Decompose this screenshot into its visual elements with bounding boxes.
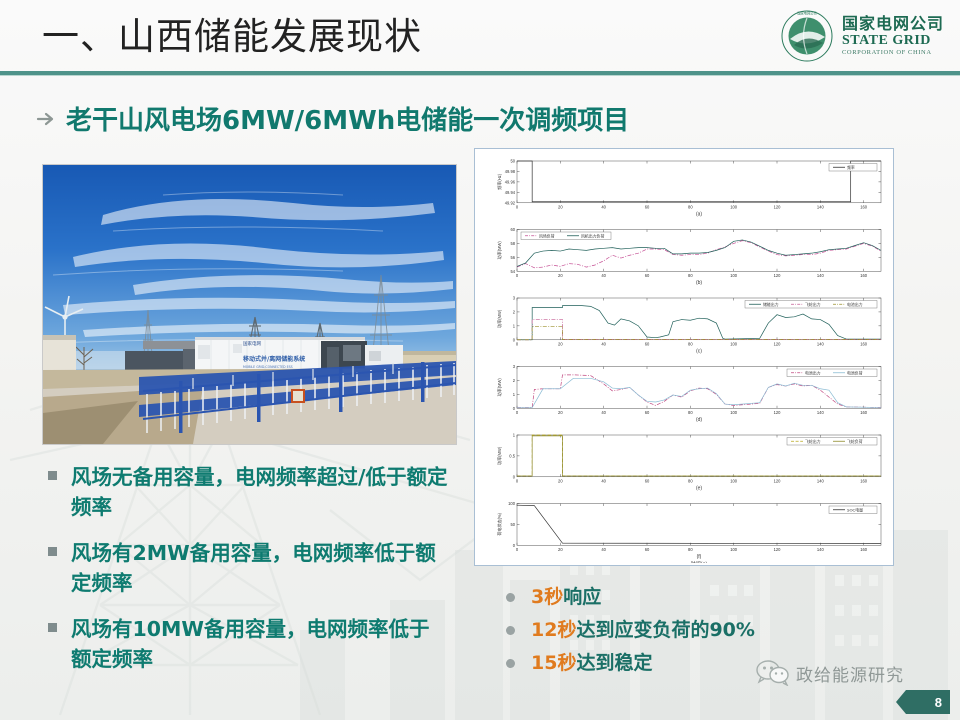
svg-text:40: 40 xyxy=(601,341,606,346)
svg-text:国家电网: 国家电网 xyxy=(243,340,261,347)
site-photo: 国家电网 移动式并/离网储能系统 MOBILE GRID-CONNECTED E… xyxy=(42,164,457,445)
svg-text:1: 1 xyxy=(513,433,516,438)
svg-text:140: 140 xyxy=(817,478,825,483)
svg-text:120: 120 xyxy=(774,410,782,415)
svg-text:60: 60 xyxy=(645,273,650,278)
svg-text:电池出力: 电池出力 xyxy=(805,370,821,375)
svg-text:2: 2 xyxy=(513,309,516,314)
svg-text:80: 80 xyxy=(688,341,693,346)
photo-content: 国家电网 移动式并/离网储能系统 MOBILE GRID-CONNECTED E… xyxy=(43,165,456,444)
right-bullet-2-number: 12秒 xyxy=(531,619,576,641)
svg-text:时间(s): 时间(s) xyxy=(691,560,708,563)
svg-text:频率(Hz): 频率(Hz) xyxy=(496,173,502,190)
svg-text:120: 120 xyxy=(774,273,782,278)
svg-text:60: 60 xyxy=(645,204,650,209)
svg-text:电池出力: 电池出力 xyxy=(847,302,863,307)
svg-text:0: 0 xyxy=(516,478,519,483)
left-bullet-list: 风场无备用容量，电网频率超过/低于额定频率 风场有2MW备用容量，电网频率低于额… xyxy=(48,462,448,690)
logo-company-cn: 国家电网公司 xyxy=(842,16,944,32)
page-title: 一、山西储能发展现状 xyxy=(42,14,422,60)
svg-text:(d): (d) xyxy=(696,417,702,423)
svg-text:140: 140 xyxy=(817,273,825,278)
square-bullet-icon xyxy=(48,471,57,480)
svg-text:40: 40 xyxy=(601,410,606,415)
svg-text:飞轮出力: 飞轮出力 xyxy=(805,439,821,444)
right-bullet-3-text: 达到稳定 xyxy=(576,652,652,674)
svg-text:80: 80 xyxy=(688,273,693,278)
svg-text:49.98: 49.98 xyxy=(505,169,516,174)
svg-text:60: 60 xyxy=(510,227,515,232)
list-item: 12秒达到应变负荷的90% xyxy=(506,617,906,643)
left-bullet-text-1: 风场无备用容量，电网频率超过/低于额定频率 xyxy=(71,462,448,522)
svg-text:功率(MW): 功率(MW) xyxy=(496,446,502,465)
svg-text:160: 160 xyxy=(860,341,868,346)
svg-text:储能出力: 储能出力 xyxy=(763,302,779,307)
svg-text:移动式并/离网储能系统: 移动式并/离网储能系统 xyxy=(243,355,305,363)
svg-text:54: 54 xyxy=(510,269,515,274)
wechat-watermark: 政给能源研究 xyxy=(756,660,904,686)
svg-text:140: 140 xyxy=(817,204,825,209)
svg-text:49.96: 49.96 xyxy=(505,179,516,184)
svg-text:0: 0 xyxy=(516,341,519,346)
logo-company-sub: CORPORATION OF CHINA xyxy=(842,50,944,57)
state-grid-globe-icon: 国家电网公司 xyxy=(780,9,834,63)
svg-text:160: 160 xyxy=(860,410,868,415)
svg-text:(e): (e) xyxy=(696,485,702,491)
svg-text:100: 100 xyxy=(730,410,738,415)
svg-text:SOC电量: SOC电量 xyxy=(847,507,863,512)
svg-text:0.5: 0.5 xyxy=(509,453,515,458)
svg-text:100: 100 xyxy=(730,547,738,552)
svg-text:飞轮出力: 飞轮出力 xyxy=(805,302,821,307)
svg-text:140: 140 xyxy=(817,410,825,415)
svg-text:(b): (b) xyxy=(696,280,702,286)
right-bullet-2: 12秒达到应变负荷的90% xyxy=(531,617,755,643)
arrow-right-icon xyxy=(36,108,58,130)
section-subtitle: 老干山风电场6MW/6MWh电储能一次调频项目 xyxy=(36,100,629,137)
svg-text:50: 50 xyxy=(510,522,515,527)
svg-text:160: 160 xyxy=(860,273,868,278)
svg-text:100: 100 xyxy=(508,501,516,506)
svg-text:0: 0 xyxy=(516,547,519,552)
svg-text:功率(MW): 功率(MW) xyxy=(496,309,502,328)
right-bullet-3: 15秒达到稳定 xyxy=(531,650,652,676)
svg-text:80: 80 xyxy=(688,204,693,209)
svg-text:40: 40 xyxy=(601,547,606,552)
list-item: 风场有2MW备用容量，电网频率低于额定频率 xyxy=(48,538,448,598)
svg-text:0: 0 xyxy=(516,410,519,415)
svg-text:100: 100 xyxy=(730,341,738,346)
svg-text:20: 20 xyxy=(558,410,563,415)
svg-text:风机出力负荷: 风机出力负荷 xyxy=(581,233,604,238)
svg-text:100: 100 xyxy=(730,204,738,209)
svg-text:60: 60 xyxy=(645,547,650,552)
circle-bullet-icon xyxy=(506,659,515,668)
list-item: 风场无备用容量，电网频率超过/低于额定频率 xyxy=(48,462,448,522)
left-bullet-text-3: 风场有10MW备用容量，电网频率低于额定频率 xyxy=(71,614,448,674)
list-item: 3秒响应 xyxy=(506,584,906,610)
circle-bullet-icon xyxy=(506,626,515,635)
svg-text:80: 80 xyxy=(688,547,693,552)
svg-text:120: 120 xyxy=(774,341,782,346)
watermark-text: 政给能源研究 xyxy=(796,661,904,686)
svg-text:3: 3 xyxy=(513,364,516,369)
svg-text:20: 20 xyxy=(558,204,563,209)
svg-text:140: 140 xyxy=(817,547,825,552)
matlab-subplots: 02040608010012014016049.9249.9449.9649.9… xyxy=(479,153,889,563)
svg-text:80: 80 xyxy=(688,410,693,415)
svg-text:60: 60 xyxy=(645,341,650,346)
svg-text:140: 140 xyxy=(817,341,825,346)
svg-text:1: 1 xyxy=(513,392,516,397)
right-bullet-1-number: 3秒 xyxy=(531,586,563,608)
svg-text:100: 100 xyxy=(730,273,738,278)
list-item: 风场有10MW备用容量，电网频率低于额定频率 xyxy=(48,614,448,674)
square-bullet-icon xyxy=(48,547,57,556)
svg-text:160: 160 xyxy=(860,204,868,209)
right-bullet-1-text: 响应 xyxy=(563,586,601,608)
svg-text:0: 0 xyxy=(516,273,519,278)
right-bullet-3-number: 15秒 xyxy=(531,652,576,674)
svg-text:40: 40 xyxy=(601,204,606,209)
svg-text:0: 0 xyxy=(516,204,519,209)
svg-text:160: 160 xyxy=(860,547,868,552)
svg-text:58: 58 xyxy=(510,241,515,246)
svg-text:20: 20 xyxy=(558,341,563,346)
header-divider-secondary xyxy=(0,75,960,76)
svg-text:飞轮负荷: 飞轮负荷 xyxy=(847,439,863,444)
svg-text:荷电状态(%): 荷电状态(%) xyxy=(496,512,502,535)
right-bullet-1: 3秒响应 xyxy=(531,584,601,610)
svg-text:40: 40 xyxy=(601,273,606,278)
svg-text:(f): (f) xyxy=(697,554,702,560)
svg-text:60: 60 xyxy=(645,410,650,415)
svg-text:120: 120 xyxy=(774,478,782,483)
svg-text:49.94: 49.94 xyxy=(505,190,516,195)
square-bullet-icon xyxy=(48,623,57,632)
svg-text:80: 80 xyxy=(688,478,693,483)
page-number: 8 xyxy=(935,695,942,710)
svg-text:频率: 频率 xyxy=(847,165,855,170)
svg-text:(a): (a) xyxy=(696,211,702,217)
svg-text:120: 120 xyxy=(774,547,782,552)
svg-text:120: 120 xyxy=(774,204,782,209)
svg-text:20: 20 xyxy=(558,478,563,483)
wechat-icon xyxy=(756,660,790,686)
slide-header: 一、山西储能发展现状 国家电网公司 国家电网公司 STATE GRID CORP… xyxy=(0,0,960,78)
svg-text:20: 20 xyxy=(558,273,563,278)
svg-text:3: 3 xyxy=(513,296,516,301)
svg-text:56: 56 xyxy=(510,255,515,260)
svg-text:160: 160 xyxy=(860,478,868,483)
subtitle-text: 老干山风电场6MW/6MWh电储能一次调频项目 xyxy=(66,100,629,137)
svg-text:2: 2 xyxy=(513,378,516,383)
state-grid-logo: 国家电网公司 国家电网公司 STATE GRID CORPORATION OF … xyxy=(780,8,944,64)
svg-text:功率(MW): 功率(MW) xyxy=(496,241,502,260)
svg-text:20: 20 xyxy=(558,547,563,552)
logo-company-en: STATE GRID xyxy=(842,34,944,48)
circle-bullet-icon xyxy=(506,593,515,602)
left-bullet-text-2: 风场有2MW备用容量，电网频率低于额定频率 xyxy=(71,538,448,598)
svg-text:1: 1 xyxy=(513,323,516,328)
right-bullet-2-text: 达到应变负荷的90% xyxy=(576,619,754,641)
svg-text:电池负荷: 电池负荷 xyxy=(847,370,863,375)
svg-text:49.92: 49.92 xyxy=(505,200,516,205)
svg-text:100: 100 xyxy=(730,478,738,483)
svg-text:国家电网公司: 国家电网公司 xyxy=(797,10,816,15)
svg-text:功率(MW): 功率(MW) xyxy=(496,378,502,397)
svg-text:50: 50 xyxy=(510,159,515,164)
svg-text:40: 40 xyxy=(601,478,606,483)
svg-text:60: 60 xyxy=(645,478,650,483)
svg-text:风场负荷: 风场负荷 xyxy=(539,233,555,238)
svg-text:(c): (c) xyxy=(696,348,702,354)
svg-text:MOBILE GRID-CONNECTED ESS: MOBILE GRID-CONNECTED ESS xyxy=(243,365,293,369)
simulation-charts-panel: 02040608010012014016049.9249.9449.9649.9… xyxy=(474,148,894,566)
